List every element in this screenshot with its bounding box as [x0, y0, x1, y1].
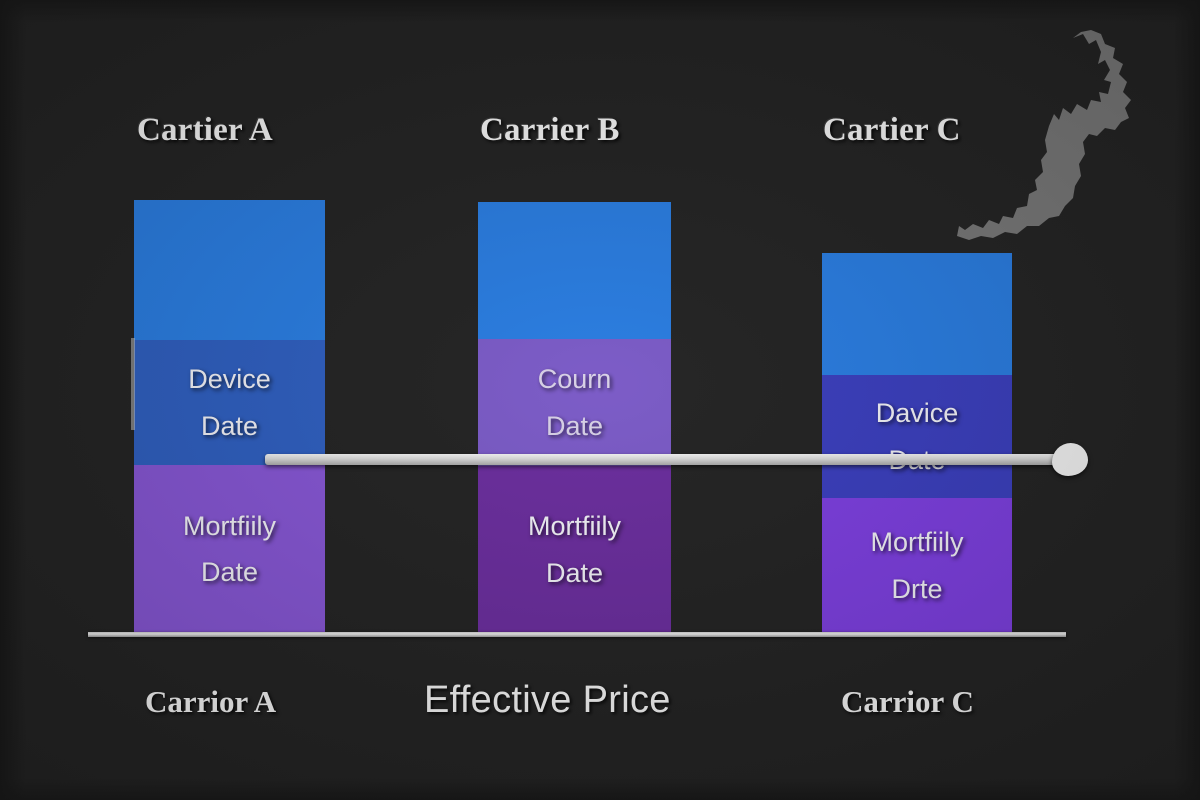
bar-b-monthly-label-line1: Mortfiily — [528, 503, 621, 549]
bar-b-segment-courn: Courn Date — [478, 339, 671, 466]
value-pointer-knob[interactable] — [1052, 443, 1088, 476]
bar-cartier-c: Davice Date Mortfiily Drte — [822, 253, 1012, 633]
bar-a-edge-artifact — [131, 338, 135, 430]
bar-c-segment-device: Davice Date — [822, 375, 1012, 498]
bar-cartier-a: Device Date Mortfiily Date — [134, 200, 325, 633]
bar-b-segment-top — [478, 202, 671, 339]
bar-carrier-b: Courn Date Mortfiily Date — [478, 202, 671, 633]
axis-label-carrior-c: Carrior C — [841, 684, 974, 720]
bar-a-segment-top — [134, 200, 325, 340]
chart-canvas: Cartier A Carrier B Cartier C Device Dat… — [0, 0, 1200, 800]
bar-a-monthly-label-line1: Mortfiily — [183, 503, 276, 549]
bar-c-device-label-line1: Davice — [876, 390, 959, 436]
axis-label-carrior-a: Carrior A — [145, 684, 276, 720]
column-title-a: Cartier A — [137, 112, 273, 149]
bar-b-segment-monthly: Mortfiily Date — [478, 466, 671, 633]
bar-a-segment-device: Device Date — [134, 340, 325, 465]
bar-c-monthly-label-line2: Drte — [891, 566, 942, 612]
column-title-c: Cartier C — [823, 112, 961, 149]
column-title-b: Carrier B — [480, 112, 620, 149]
value-pointer-line[interactable] — [265, 454, 1065, 465]
bar-c-segment-top — [822, 253, 1012, 375]
baseline-axis — [88, 632, 1066, 637]
bar-a-monthly-label-line2: Date — [201, 549, 258, 595]
bar-b-courn-label-line2: Date — [546, 403, 603, 449]
smoke-shape — [955, 30, 1135, 245]
bar-c-segment-monthly: Mortfiily Drte — [822, 498, 1012, 633]
bar-b-monthly-label-line2: Date — [546, 550, 603, 596]
bar-a-device-label-line2: Date — [201, 403, 258, 449]
bar-a-device-label-line1: Device — [188, 356, 271, 402]
bar-b-courn-label-line1: Courn — [538, 356, 612, 402]
bar-c-monthly-label-line1: Mortfiily — [871, 519, 964, 565]
axis-title-effective-price: Effective Price — [424, 679, 671, 722]
bar-a-segment-monthly: Mortfiily Date — [134, 465, 325, 633]
